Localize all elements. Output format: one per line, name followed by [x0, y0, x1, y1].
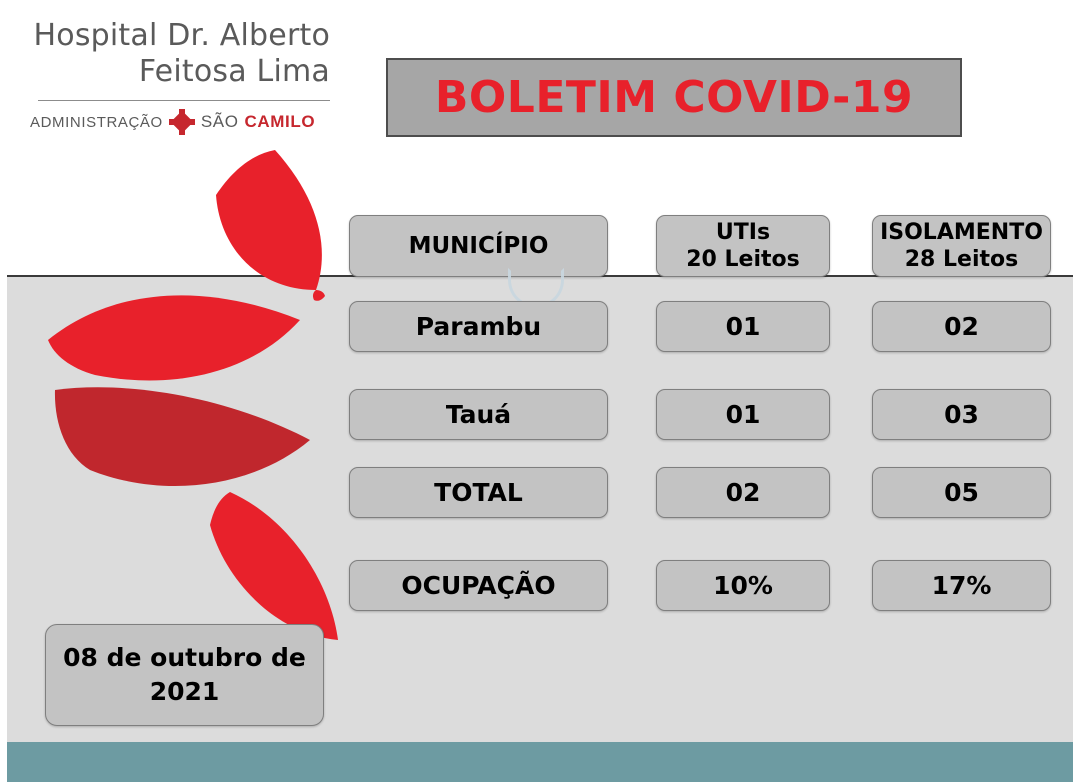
header-cell-municipio: MUNICÍPIO	[349, 215, 608, 277]
cell-utis-row2: 01	[726, 400, 761, 429]
bulletin-date-box: 08 de outubro de 2021	[45, 624, 324, 726]
logo-line-1: Hospital Dr. Alberto	[30, 18, 330, 54]
table-row: 10%	[656, 560, 830, 611]
cell-utis-row1: 01	[726, 312, 761, 341]
header-utis-line2: 20 Leitos	[686, 246, 799, 273]
header-isolamento-line2: 28 Leitos	[880, 246, 1043, 273]
table-row: 17%	[872, 560, 1051, 611]
cell-municipio-row4: OCUPAÇÃO	[401, 571, 555, 600]
cell-municipio-row2: Tauá	[446, 400, 511, 429]
cell-utis-row4: 10%	[713, 571, 773, 600]
header-cell-isolamento: ISOLAMENTO 28 Leitos	[872, 215, 1051, 277]
table-row: 01	[656, 389, 830, 440]
table-row: 02	[656, 467, 830, 518]
logo-administration-line: ADMINISTRAÇÃO SÃOCAMILO	[30, 109, 330, 135]
hospital-logo: Hospital Dr. Alberto Feitosa Lima ADMINI…	[30, 18, 330, 135]
header-isolamento-line1: ISOLAMENTO	[880, 219, 1043, 246]
bulletin-title-box: BOLETIM COVID-19	[386, 58, 962, 137]
cell-isolamento-row3: 05	[944, 478, 979, 507]
header-municipio-label: MUNICÍPIO	[409, 233, 549, 259]
header-utis-stack: UTIs 20 Leitos	[686, 219, 799, 273]
table-row: 01	[656, 301, 830, 352]
cell-isolamento-row1: 02	[944, 312, 979, 341]
logo-admin-text: ADMINISTRAÇÃO	[30, 114, 163, 131]
header-cell-utis: UTIs 20 Leitos	[656, 215, 830, 277]
table-row: 03	[872, 389, 1051, 440]
cell-municipio-row3: TOTAL	[434, 478, 523, 507]
cell-utis-row3: 02	[726, 478, 761, 507]
table-row: TOTAL	[349, 467, 608, 518]
bulletin-date-line2: 2021	[150, 677, 220, 706]
cell-municipio-row1: Parambu	[416, 312, 541, 341]
bulletin-date-text: 08 de outubro de 2021	[63, 641, 306, 709]
header-utis-line1: UTIs	[686, 219, 799, 246]
table-row: Tauá	[349, 389, 608, 440]
cell-isolamento-row4: 17%	[932, 571, 992, 600]
logo-line-2: Feitosa Lima	[30, 54, 330, 90]
bulletin-date-line1: 08 de outubro de	[63, 643, 306, 672]
table-row: 05	[872, 467, 1051, 518]
cell-isolamento-row2: 03	[944, 400, 979, 429]
camilian-cross-icon	[169, 109, 195, 135]
logo-brand-camilo: CAMILO	[245, 112, 316, 132]
bulletin-title-text: BOLETIM COVID-19	[435, 72, 913, 123]
logo-divider	[38, 100, 330, 101]
table-row: OCUPAÇÃO	[349, 560, 608, 611]
logo-brand-sao: SÃO	[201, 112, 239, 132]
header-isolamento-stack: ISOLAMENTO 28 Leitos	[880, 219, 1043, 273]
slide-canvas: Hospital Dr. Alberto Feitosa Lima ADMINI…	[0, 0, 1080, 782]
table-row: 02	[872, 301, 1051, 352]
footer-teal-bar	[0, 742, 1080, 782]
table-row: Parambu	[349, 301, 608, 352]
